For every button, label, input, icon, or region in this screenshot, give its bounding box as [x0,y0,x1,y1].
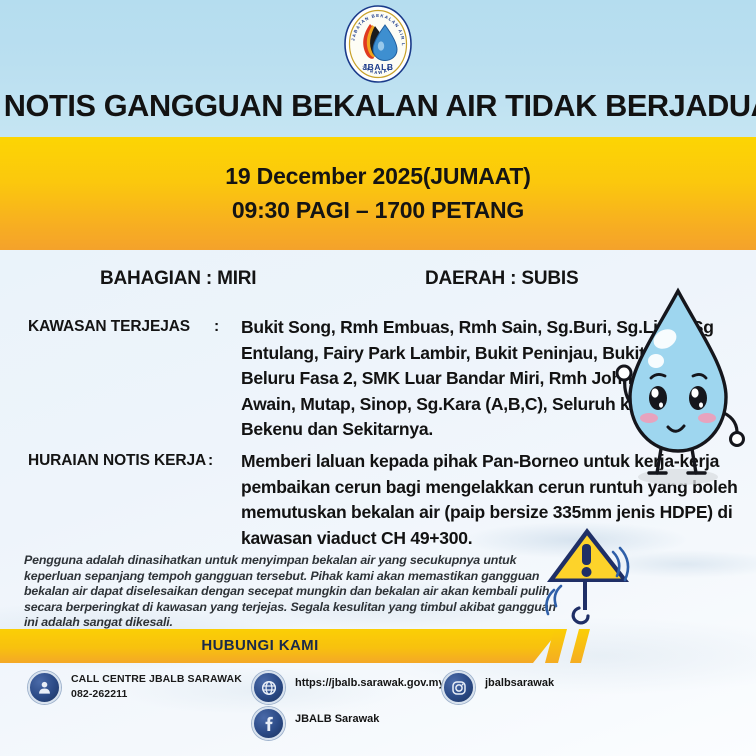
field-colon: : [214,318,219,336]
contact-facebook[interactable]: JBALB Sarawak [252,707,379,740]
notice-date: 19 December 2025(JUMAAT) [0,163,756,190]
contact-band: HUBUNGI KAMI [0,629,756,663]
contact-band-label: HUBUNGI KAMI [0,637,520,654]
website-url[interactable]: https://jbalb.sarawak.gov.my/ [295,671,448,689]
field-label: HURAIAN NOTIS KERJA [28,452,208,470]
field-label: KAWASAN TERJEJAS [28,318,208,336]
contact-instagram[interactable]: jbalbsarawak [442,671,554,704]
contact-phone: 082-262211 [71,688,242,700]
disclaimer-text: Pengguna adalah dinasihatkan untuk menyi… [24,553,569,631]
water-droplet-mascot [594,281,756,496]
notice-poster: JABATAN BEKALAN AIR LUAR BANDAR SARAWAK … [0,0,756,756]
contact-call-centre[interactable]: CALL CENTRE JBALB SARAWAK 082-262211 [28,671,242,704]
person-icon [28,671,61,704]
date-time-banner: 19 December 2025(JUMAAT) 09:30 PAGI – 17… [0,137,756,250]
instagram-handle[interactable]: jbalbsarawak [485,671,554,689]
contact-list: CALL CENTRE JBALB SARAWAK 082-262211 htt… [0,669,756,749]
page-title: NOTIS GANGGUAN BEKALAN AIR TIDAK BERJADU… [4,88,752,124]
globe-icon [252,671,285,704]
contact-website[interactable]: https://jbalb.sarawak.gov.my/ [252,671,448,704]
contact-band-stripe-2 [570,629,590,663]
facebook-handle[interactable]: JBALB Sarawak [295,707,379,725]
svg-text:JBALB: JBALB [362,62,393,72]
bahagian-label: BAHAGIAN : MIRI [100,268,256,290]
warning-triangle-icon [541,524,633,610]
poster-header: JABATAN BEKALAN AIR LUAR BANDAR SARAWAK … [0,0,756,137]
contact-name: CALL CENTRE JBALB SARAWAK [71,673,242,685]
daerah-label: DAERAH : SUBIS [425,268,578,290]
facebook-icon [252,707,285,740]
notice-time: 09:30 PAGI – 1700 PETANG [0,197,756,224]
field-colon: : [208,452,213,470]
jbalb-logo: JABATAN BEKALAN AIR LUAR BANDAR SARAWAK … [341,4,415,84]
poster-body: BAHAGIAN : MIRI DAERAH : SUBIS KAWASAN T… [0,250,756,756]
instagram-icon [442,671,475,704]
